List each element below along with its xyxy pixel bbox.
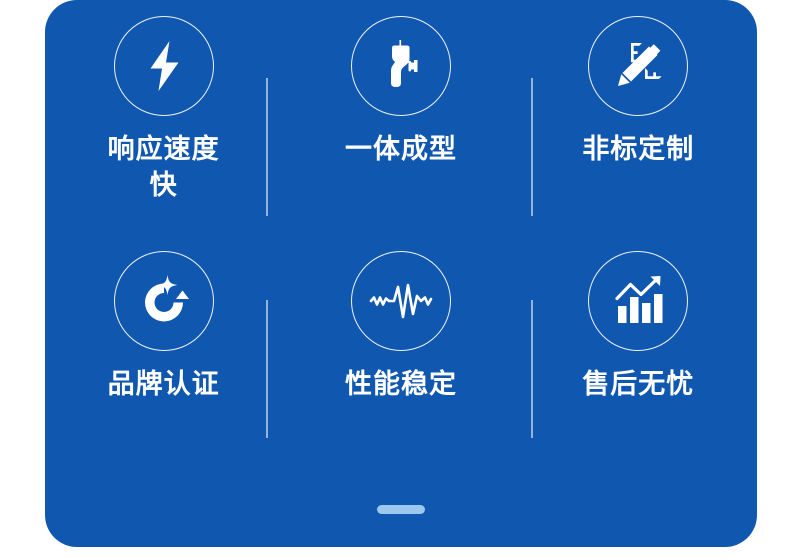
feature-label: 一体成型 (301, 132, 501, 168)
feature-item-fast-response[interactable]: 响应速度快 (45, 0, 282, 235)
lightning-bolt-icon (114, 16, 214, 116)
column-divider (531, 78, 533, 216)
column-divider (266, 300, 268, 438)
screenshot-root: 响应速度快 一体成型 (0, 0, 800, 557)
bar-chart-arrow-icon (588, 251, 688, 351)
waveform-icon (351, 251, 451, 351)
feature-item-after-sales-service[interactable]: 售后无忧 (520, 235, 757, 470)
feature-item-one-piece-molding[interactable]: 一体成型 (282, 0, 519, 235)
pencil-ruler-icon (588, 16, 688, 116)
feature-highlights-card: 响应速度快 一体成型 (45, 0, 757, 547)
feature-grid: 响应速度快 一体成型 (45, 0, 757, 470)
column-divider (266, 78, 268, 216)
certification-sparkle-icon (114, 251, 214, 351)
page-indicator[interactable] (377, 505, 425, 514)
feature-item-brand-certification[interactable]: 品牌认证 (45, 235, 282, 470)
column-divider (531, 300, 533, 438)
feature-label: 售后无忧 (538, 367, 738, 403)
feature-item-custom-nonstandard[interactable]: 非标定制 (520, 0, 757, 235)
feature-label: 品牌认证 (64, 367, 264, 403)
feature-label: 响应速度快 (102, 132, 226, 203)
overmolded-connector-icon (351, 16, 451, 116)
feature-label: 非标定制 (538, 132, 738, 168)
feature-item-stable-performance[interactable]: 性能稳定 (282, 235, 519, 470)
feature-label: 性能稳定 (301, 367, 501, 403)
